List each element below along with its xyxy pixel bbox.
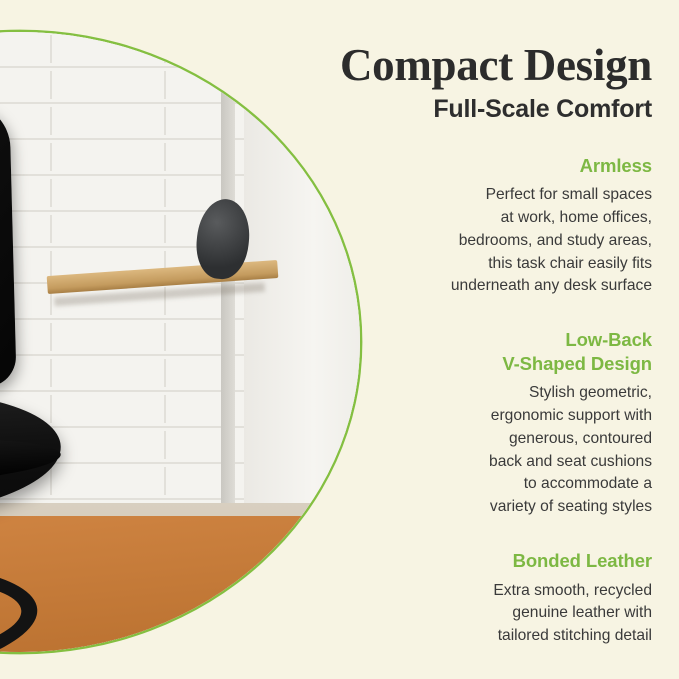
product-feature-poster: Compact Design Full-Scale Comfort Armles… [0, 0, 679, 679]
text-column: Compact Design Full-Scale Comfort Armles… [240, 0, 652, 648]
feature-description: Extra smooth, recycled genuine leather w… [240, 580, 652, 648]
brick-row [0, 32, 251, 68]
brick-row [0, 68, 251, 104]
brick-row [0, 356, 251, 392]
feature-title: Low-Back V-Shaped Design [240, 328, 652, 375]
brick-row [0, 320, 251, 356]
feature-block-low-back-v-shaped-design: Low-Back V-Shaped Design Stylish geometr… [240, 328, 652, 519]
feature-title: Bonded Leather [240, 549, 652, 573]
brick-row [0, 104, 251, 140]
feature-block-armless: Armless Perfect for small spaces at work… [240, 154, 652, 299]
feature-description: Stylish geometric, ergonomic support wit… [240, 382, 652, 519]
brick-row [0, 140, 251, 176]
feature-block-bonded-leather: Bonded Leather Extra smooth, recycled ge… [240, 549, 652, 648]
feature-description: Perfect for small spaces at work, home o… [240, 184, 652, 298]
page-subtitle: Full-Scale Comfort [240, 95, 652, 124]
feature-title: Armless [240, 154, 652, 178]
page-title: Compact Design [240, 0, 652, 89]
